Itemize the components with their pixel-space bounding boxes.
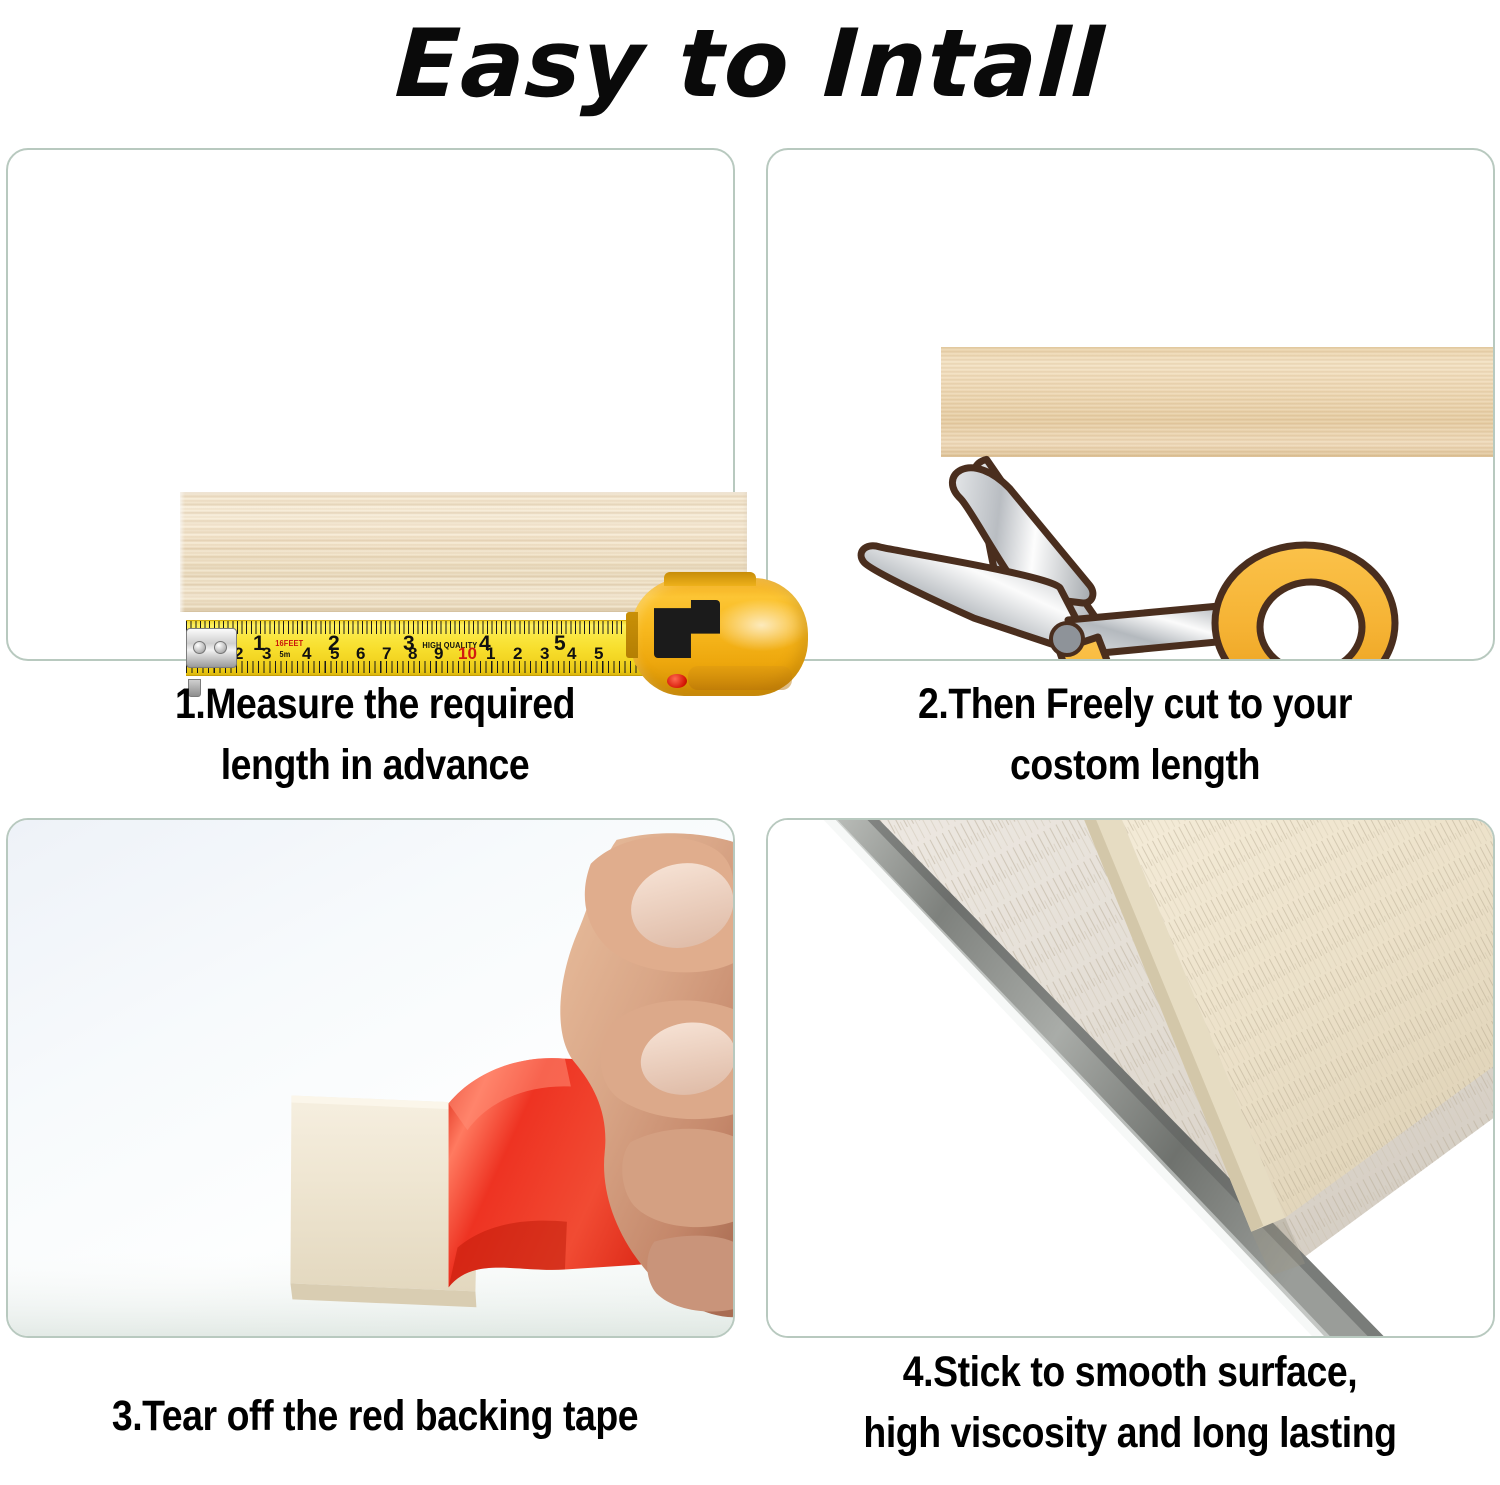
stick-step-panel	[766, 818, 1495, 1338]
caption-line: length in advance	[75, 735, 675, 796]
tape-metric-mark: 5	[594, 645, 603, 662]
trim-on-surface-scene	[768, 820, 1493, 1336]
caption-line: high viscosity and long lasting	[808, 1403, 1452, 1464]
tape-metric-mark-highlight: 10	[458, 645, 477, 662]
tape-metric-label: 5m	[279, 651, 290, 659]
page-title: Easy to Intall	[0, 0, 1500, 128]
tape-red-button	[667, 674, 687, 688]
step-3-caption: 3.Tear off the red backing tape	[49, 1386, 702, 1447]
tape-feet-label: 16FEET	[275, 640, 303, 648]
step-1-caption: 1.Measure the required length in advance	[75, 674, 675, 796]
tape-metric-mark: 7	[382, 645, 391, 662]
cut-step-illustration	[768, 150, 1493, 659]
tape-metric-mark: 4	[302, 645, 311, 662]
tape-housing-decal	[688, 666, 792, 690]
step-2-caption: 2.Then Freely cut to your costom length	[835, 674, 1435, 796]
stick-step-photo	[768, 820, 1493, 1336]
scissors-pivot-screw	[1051, 623, 1083, 655]
measure-step-illustration: 1 2 3 4 5 6 16FEET 5m HIGH QUALITY 2 3 4…	[8, 150, 733, 659]
scissors-right-handle	[1215, 545, 1395, 659]
caption-line: 4.Stick to smooth surface,	[808, 1342, 1452, 1403]
tape-imperial-mark: 5	[554, 633, 566, 654]
caption-line: 3.Tear off the red backing tape	[49, 1386, 702, 1447]
cut-step-panel	[766, 148, 1495, 661]
caption-line: 1.Measure the required	[75, 674, 675, 735]
tape-metric-mark: 1	[486, 645, 495, 662]
tape-metric-mark: 8	[408, 645, 417, 662]
tape-metric-mark: 6	[356, 645, 365, 662]
tape-metric-mark: 3	[262, 645, 271, 662]
tape-housing-top	[664, 572, 756, 586]
tape-measure-housing	[630, 578, 808, 696]
caption-line: costom length	[835, 735, 1435, 796]
tape-metric-mark: 2	[513, 645, 522, 662]
peel-step-panel	[6, 818, 735, 1338]
tape-metric-mark: 4	[567, 645, 576, 662]
caption-line: 2.Then Freely cut to your	[835, 674, 1435, 735]
step-4-caption: 4.Stick to smooth surface, high viscosit…	[808, 1342, 1452, 1464]
scissors-icon	[768, 150, 1493, 659]
peel-step-photo	[8, 820, 733, 1336]
measure-step-panel: 1 2 3 4 5 6 16FEET 5m HIGH QUALITY 2 3 4…	[6, 148, 735, 661]
tape-end-hook	[186, 628, 237, 668]
tape-metric-mark: 5	[330, 645, 339, 662]
tape-blade-slot	[626, 612, 638, 658]
tape-metric-mark: 9	[434, 645, 443, 662]
tape-metric-mark: 3	[540, 645, 549, 662]
hand-peeling-backing-scene	[8, 820, 733, 1336]
tape-lock-lever	[654, 600, 720, 658]
